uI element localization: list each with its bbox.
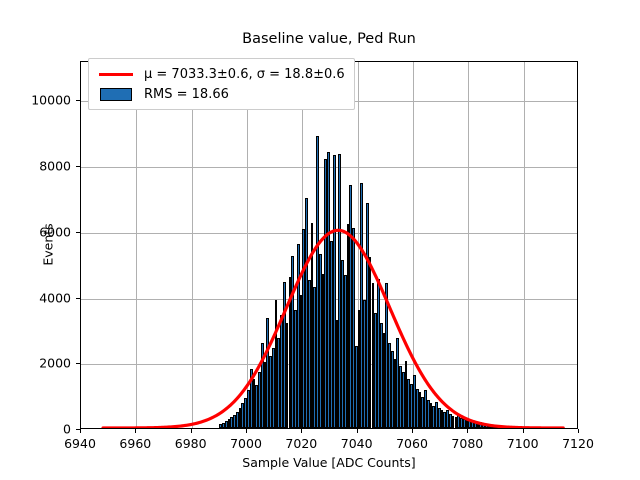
x-tick-mark bbox=[80, 429, 81, 433]
legend-line-swatch bbox=[97, 73, 135, 76]
y-tick-label: 10000 bbox=[0, 93, 71, 108]
page-title: Baseline value, Ped Run bbox=[80, 30, 578, 48]
x-tick-mark bbox=[357, 429, 358, 433]
plot-area bbox=[80, 61, 578, 429]
x-tick-label: 6940 bbox=[64, 436, 96, 451]
x-tick-label: 7120 bbox=[562, 436, 594, 451]
x-tick-mark bbox=[467, 429, 468, 433]
y-tick-mark bbox=[76, 166, 80, 167]
x-tick-label: 7080 bbox=[451, 436, 483, 451]
legend: μ = 7033.3±0.6, σ = 18.8±0.6 RMS = 18.66 bbox=[88, 58, 355, 110]
y-tick-label: 6000 bbox=[0, 224, 71, 239]
legend-item-hist: RMS = 18.66 bbox=[97, 84, 345, 104]
y-tick-label: 4000 bbox=[0, 290, 71, 305]
x-tick-label: 7020 bbox=[285, 436, 317, 451]
y-axis-label: Events bbox=[41, 215, 56, 275]
legend-label-hist: RMS = 18.66 bbox=[144, 87, 229, 102]
y-tick-label: 2000 bbox=[0, 356, 71, 371]
y-tick-mark bbox=[76, 298, 80, 299]
y-tick-mark bbox=[76, 100, 80, 101]
figure-canvas: Baseline value, Ped Run 6940696069807000… bbox=[0, 0, 640, 480]
y-tick-mark bbox=[76, 232, 80, 233]
legend-patch-swatch bbox=[97, 88, 135, 101]
x-tick-mark bbox=[523, 429, 524, 433]
y-tick-label: 8000 bbox=[0, 159, 71, 174]
y-tick-label: 0 bbox=[0, 422, 71, 437]
x-tick-label: 6960 bbox=[119, 436, 151, 451]
y-tick-mark bbox=[76, 429, 80, 430]
x-tick-mark bbox=[412, 429, 413, 433]
x-tick-label: 7060 bbox=[396, 436, 428, 451]
fit-path bbox=[103, 230, 563, 428]
x-tick-mark bbox=[578, 429, 579, 433]
legend-label-fit: μ = 7033.3±0.6, σ = 18.8±0.6 bbox=[144, 67, 345, 82]
x-tick-label: 6980 bbox=[175, 436, 207, 451]
x-tick-mark bbox=[135, 429, 136, 433]
x-tick-mark bbox=[191, 429, 192, 433]
x-tick-mark bbox=[246, 429, 247, 433]
gaussian-fit-curve bbox=[81, 62, 577, 428]
y-tick-mark bbox=[76, 363, 80, 364]
x-tick-label: 7100 bbox=[507, 436, 539, 451]
x-tick-mark bbox=[301, 429, 302, 433]
x-tick-label: 7040 bbox=[341, 436, 373, 451]
x-tick-label: 7000 bbox=[230, 436, 262, 451]
x-axis-label: Sample Value [ADC Counts] bbox=[80, 455, 578, 470]
legend-item-fit: μ = 7033.3±0.6, σ = 18.8±0.6 bbox=[97, 64, 345, 84]
